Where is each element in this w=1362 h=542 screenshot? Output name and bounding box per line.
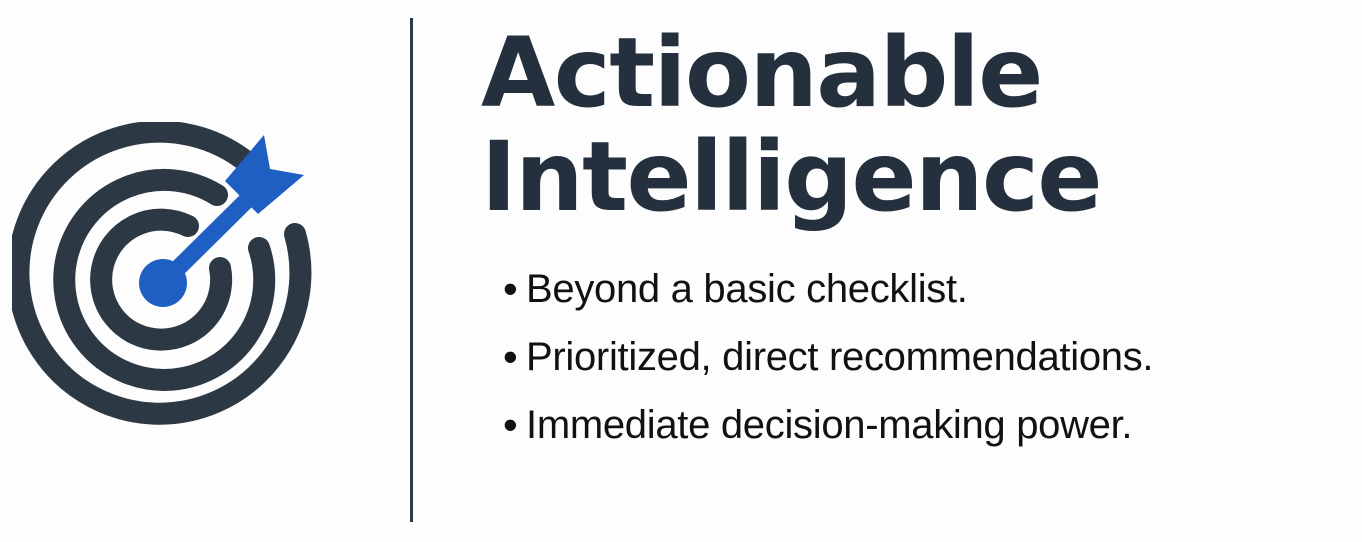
slide-canvas: Actionable Intelligence • Beyond a basic…	[0, 0, 1362, 542]
bullet-text: Immediate decision-making power.	[526, 402, 1353, 448]
content-panel: Actionable Intelligence • Beyond a basic…	[481, 0, 1362, 542]
page-title: Actionable Intelligence	[481, 22, 1341, 229]
bullet-marker-icon: •	[503, 402, 526, 448]
list-item: • Prioritized, direct recommendations.	[503, 334, 1353, 402]
bullseye-center-dot	[139, 259, 187, 307]
bullet-list: • Beyond a basic checklist. • Prioritize…	[503, 266, 1353, 470]
target-with-arrow-icon	[12, 122, 322, 444]
list-item: • Immediate decision-making power.	[503, 402, 1353, 470]
page-title-line-1: Actionable	[481, 22, 1341, 126]
bullet-text: Prioritized, direct recommendations.	[526, 334, 1353, 380]
icon-panel	[0, 0, 392, 542]
list-item: • Beyond a basic checklist.	[503, 266, 1353, 334]
bullet-marker-icon: •	[503, 334, 526, 380]
page-title-line-2: Intelligence	[481, 126, 1341, 230]
vertical-divider	[410, 18, 413, 522]
bullet-text: Beyond a basic checklist.	[526, 266, 1353, 312]
bullet-marker-icon: •	[503, 266, 526, 312]
